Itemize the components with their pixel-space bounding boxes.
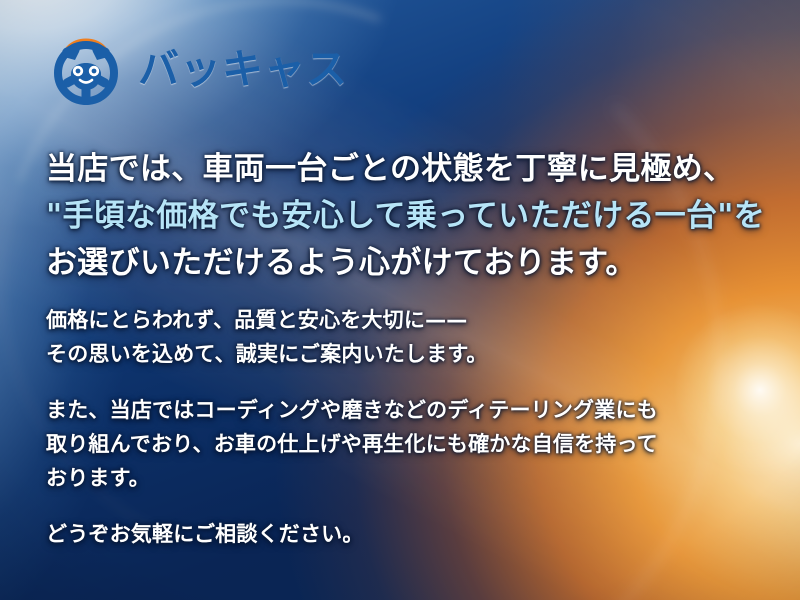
paragraph-quality-line-2: その思いを込めて、誠実にご案内いたします。 (46, 337, 766, 371)
paragraph-quality: 価格にとらわれず、品質と安心を大切に—— その思いを込めて、誠実にご案内いたしま… (46, 303, 766, 371)
paragraph-quality-line-1: 価格にとらわれず、品質と安心を大切に—— (46, 303, 766, 337)
paragraph-contact-line-1: どうぞお気軽にご相談ください。 (46, 517, 766, 551)
paragraph-detailing-line-1: また、当店ではコーディングや磨きなどのディテーリング業にも (46, 393, 766, 427)
steering-wheel-mascot-icon (47, 33, 125, 105)
headline-line-1: 当店では、車両一台ごとの状態を丁寧に見極め、 (46, 146, 766, 193)
headline-line-3: お選びいただけるよう心がけております。 (46, 240, 766, 287)
promo-banner: バッキャス 当店では、車両一台ごとの状態を丁寧に見極め、 "手頃な価格でも安心し… (0, 0, 800, 600)
brand-wordmark: バッキャス (138, 49, 348, 90)
paragraph-detailing-line-3: おります。 (46, 461, 766, 495)
paragraph-contact: どうぞお気軽にご相談ください。 (46, 517, 766, 551)
paragraph-detailing-line-2: 取り組んでおり、お車の仕上げや再生化にも確かな自信を持って (46, 427, 766, 461)
paragraph-detailing: また、当店ではコーディングや磨きなどのディテーリング業にも 取り組んでおり、お車… (46, 393, 766, 495)
headline-line-2: "手頃な価格でも安心して乗っていただける一台"を (46, 193, 766, 240)
banner-copy: 当店では、車両一台ごとの状態を丁寧に見極め、 "手頃な価格でも安心して乗っていた… (46, 146, 766, 551)
brand-logo: バッキャス (47, 33, 348, 105)
